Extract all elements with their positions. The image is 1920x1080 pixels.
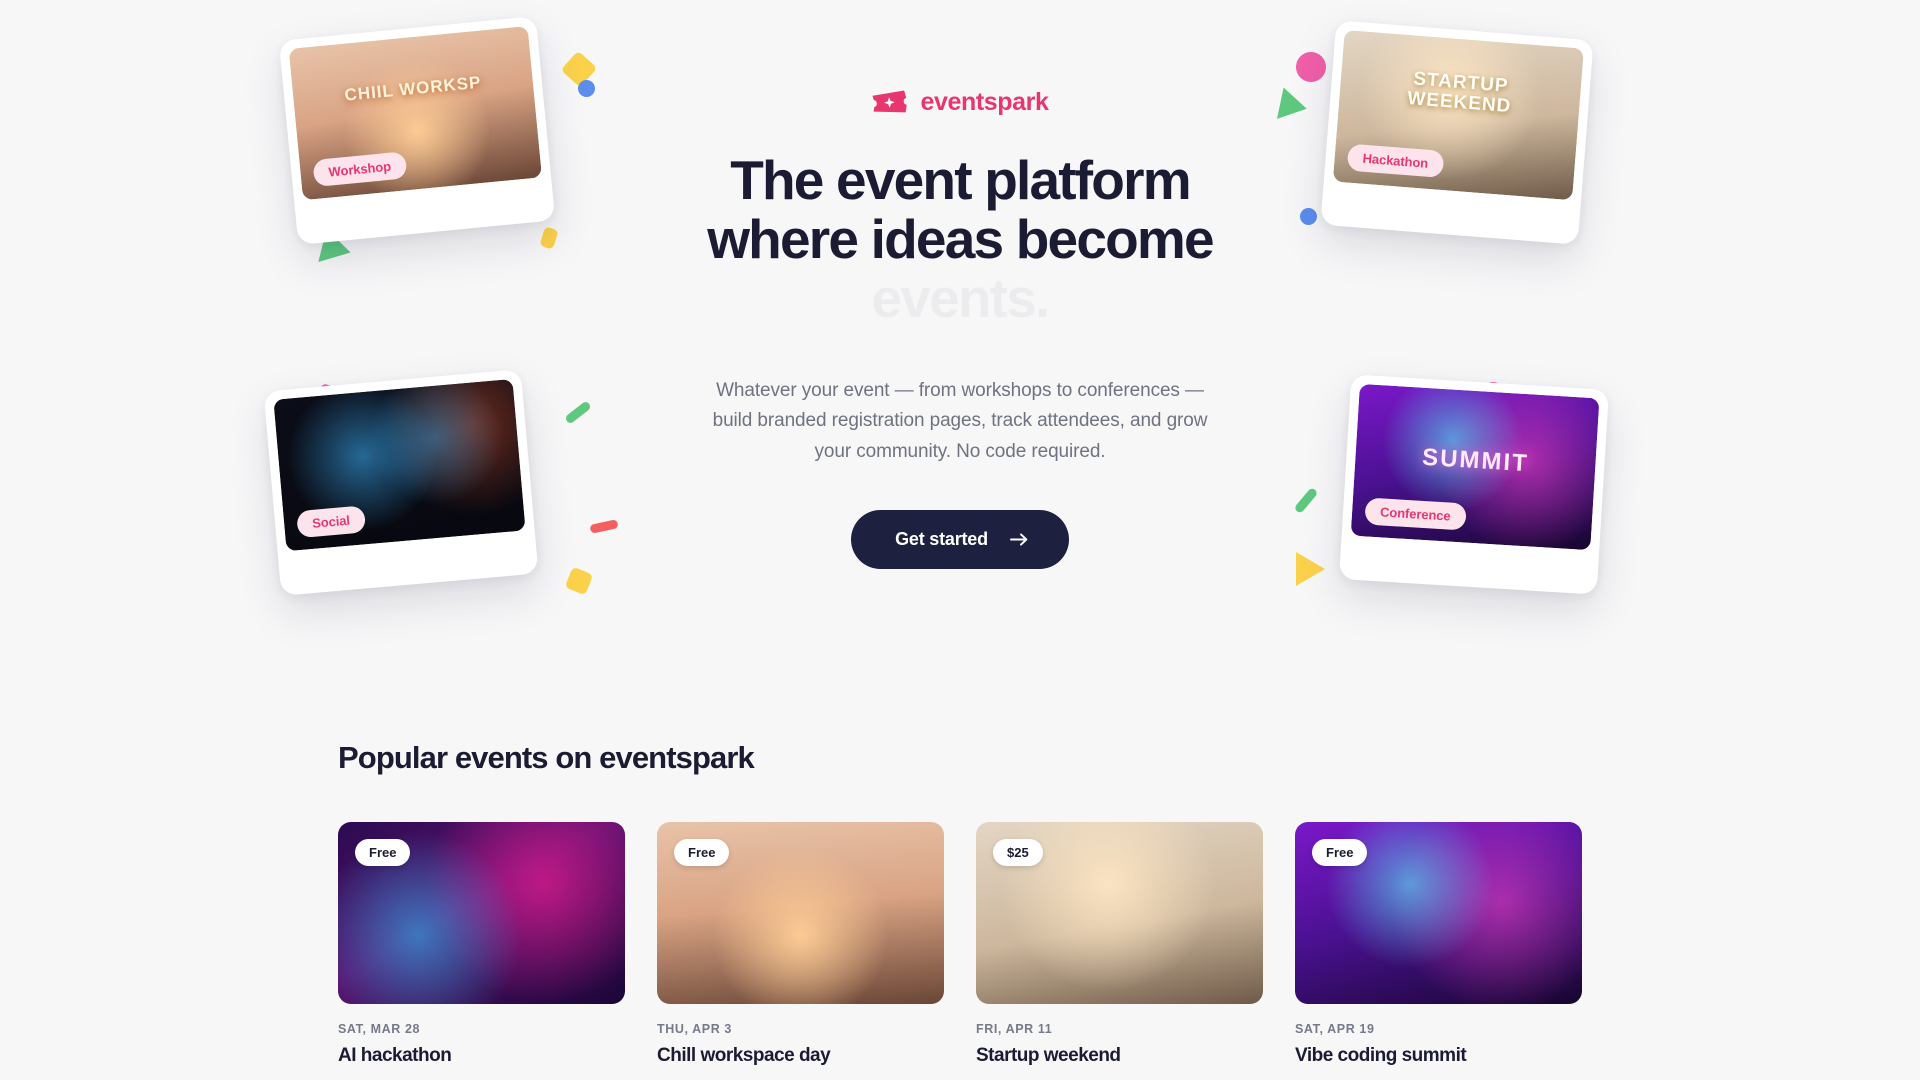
workshop-photo: Free	[657, 822, 944, 1004]
headline-line-1: The event platform	[640, 151, 1280, 210]
arrow-right-icon	[1010, 532, 1029, 547]
floating-card-conference[interactable]: SUMMIT Conference	[1339, 374, 1609, 594]
price-badge: Free	[674, 839, 729, 866]
popular-events-section: Popular events on eventspark Free SAT, M…	[0, 740, 1920, 1067]
event-name: Chill workspace day	[657, 1045, 944, 1067]
workshop-photo: CHIIL WORKSP Workshop	[289, 26, 542, 200]
event-card[interactable]: $25 FRI, APR 11 Startup weekend	[976, 822, 1263, 1067]
green-dash-mid	[564, 400, 592, 424]
headline-line-3: events.	[640, 269, 1280, 328]
hackathon-photo: $25	[976, 822, 1263, 1004]
event-card[interactable]: Free SAT, APR 19 Vibe coding summit	[1295, 822, 1582, 1067]
event-date: SAT, APR 19	[1295, 1022, 1582, 1036]
event-date: SAT, MAR 28	[338, 1022, 625, 1036]
blue-circle-top-left	[578, 80, 595, 97]
get-started-button[interactable]: Get started	[851, 510, 1069, 569]
ai-network-photo: Free	[338, 822, 625, 1004]
hero-section: CHIIL WORKSP Workshop STARTUP WEEKEND Ha…	[0, 0, 1920, 720]
brand-logo[interactable]: eventspark	[640, 88, 1280, 117]
price-badge: $25	[993, 839, 1043, 866]
event-grid: Free SAT, MAR 28 AI hackathon Free THU, …	[338, 822, 1582, 1067]
event-date: THU, APR 3	[657, 1022, 944, 1036]
yellow-dash-left	[539, 226, 558, 249]
popular-events-title: Popular events on eventspark	[338, 740, 1582, 776]
price-badge: Free	[1312, 839, 1367, 866]
hero-content: eventspark The event platform where idea…	[640, 88, 1280, 569]
hackathon-photo: STARTUP WEEKEND Hackathon	[1333, 30, 1584, 200]
pink-circle-top-right	[1296, 52, 1326, 82]
green-dash-right	[1294, 487, 1319, 514]
hero-headline: The event platform where ideas become ev…	[640, 151, 1280, 328]
yellow-triangle-right	[1296, 552, 1325, 586]
green-triangle-right	[1277, 88, 1310, 125]
social-photo: Social	[273, 379, 525, 551]
event-name: Vibe coding summit	[1295, 1045, 1582, 1067]
event-card[interactable]: Free SAT, MAR 28 AI hackathon	[338, 822, 625, 1067]
conference-photo: Free	[1295, 822, 1582, 1004]
headline-line-2: where ideas become	[640, 210, 1280, 269]
ticket-icon	[871, 90, 909, 115]
hero-subcopy: Whatever your event — from workshops to …	[700, 376, 1220, 468]
event-name: Startup weekend	[976, 1045, 1263, 1067]
event-card[interactable]: Free THU, APR 3 Chill workspace day	[657, 822, 944, 1067]
conference-photo: SUMMIT Conference	[1351, 384, 1600, 550]
floating-card-hackathon[interactable]: STARTUP WEEKEND Hackathon	[1320, 20, 1593, 245]
floating-card-workshop[interactable]: CHIIL WORKSP Workshop	[279, 16, 555, 245]
get-started-label: Get started	[895, 529, 988, 550]
blue-circle-right	[1300, 208, 1317, 225]
yellow-square-mid	[565, 567, 594, 596]
event-name: AI hackathon	[338, 1045, 625, 1067]
coral-dash-mid	[589, 519, 618, 534]
event-date: FRI, APR 11	[976, 1022, 1263, 1036]
price-badge: Free	[355, 839, 410, 866]
floating-card-social[interactable]: Social	[264, 369, 539, 596]
brand-name: eventspark	[920, 88, 1048, 117]
